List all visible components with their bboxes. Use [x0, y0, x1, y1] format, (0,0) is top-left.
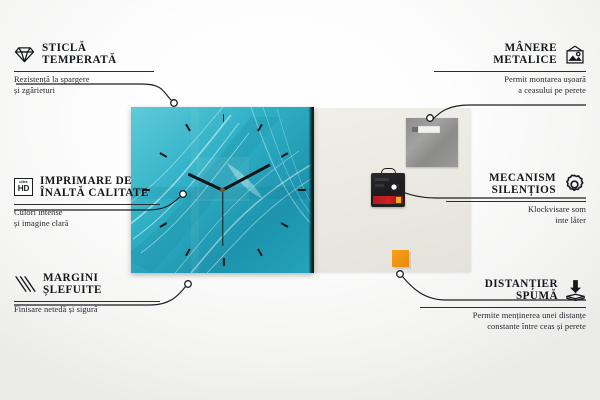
feature-header: STICLĂ TEMPERATĂ: [14, 42, 154, 67]
feature-rule: [14, 71, 154, 72]
infographic-canvas: STICLĂ TEMPERATĂ Rezistență la spargere …: [0, 0, 600, 400]
feature-header: ultra HD IMPRIMARE DE ÎNALTĂ CALITATE: [14, 175, 160, 200]
feature-title: STICLĂ TEMPERATĂ: [42, 42, 117, 67]
mechanism-detail: [375, 184, 384, 187]
ultra-hd-icon: ultra HD: [14, 178, 33, 196]
clock-second-hand: [222, 190, 223, 246]
polished-edges-icon: [14, 275, 36, 293]
feature-rule: [14, 204, 160, 205]
feature-rule: [14, 301, 160, 302]
feature-rule: [446, 201, 586, 202]
feature-title: DISTANȚIER SPUMĂ: [485, 278, 558, 303]
clock-glass-edge: [309, 107, 314, 273]
ultra-hd-large-label: HD: [18, 185, 29, 193]
feature-high-quality-print: ultra HD IMPRIMARE DE ÎNALTĂ CALITATE Cu…: [14, 175, 160, 229]
feature-header: MÂNERE METALICE: [434, 42, 586, 67]
clock-center-cap: [220, 188, 224, 192]
mechanism-battery: [373, 196, 403, 204]
feature-header: DISTANȚIER SPUMĂ: [420, 278, 586, 303]
feature-subtitle: Permite menținerea unei distanțe constan…: [420, 311, 586, 331]
feature-foam-spacer: DISTANȚIER SPUMĂ Permite menținerea unei…: [420, 278, 586, 332]
diamond-icon: [14, 46, 35, 63]
battery-terminal: [396, 197, 401, 203]
feature-subtitle: Klockvisare som inte låter: [446, 205, 586, 225]
mechanism-hanger-loop: [381, 168, 396, 176]
feature-rule: [420, 307, 586, 308]
feature-header: MARGINI ȘLEFUITE: [14, 272, 160, 297]
mechanism-detail: [391, 184, 399, 191]
feature-title: MARGINI ȘLEFUITE: [43, 272, 102, 297]
metal-hanger-plate: [406, 118, 458, 167]
plate-slot: [418, 126, 440, 133]
feature-polished-edges: MARGINI ȘLEFUITE Finisare netedă și sigu…: [14, 272, 160, 316]
feature-rule: [434, 71, 586, 72]
feature-metal-hangers: MÂNERE METALICE Permit montarea ușoară a…: [434, 42, 586, 96]
silent-clock-mechanism: [371, 173, 405, 207]
feature-subtitle: Culori intense și imagine clară: [14, 208, 160, 228]
feature-title: MÂNERE METALICE: [493, 42, 557, 67]
feature-header: MECANISM SILENȚIOS: [446, 172, 586, 197]
feature-title: MECANISM SILENȚIOS: [489, 172, 556, 197]
mechanism-detail: [375, 178, 389, 181]
feature-silent-mechanism: MECANISM SILENȚIOS Klockvisare som inte …: [446, 172, 586, 226]
feature-tempered-glass: STICLĂ TEMPERATĂ Rezistență la spargere …: [14, 42, 154, 96]
gear-icon: [563, 173, 586, 196]
feature-subtitle: Finisare netedă și sigură: [14, 305, 160, 315]
feature-title: IMPRIMARE DE ÎNALTĂ CALITATE: [40, 175, 149, 200]
feature-subtitle: Rezistență la spargere și zgârieturi: [14, 75, 154, 95]
picture-hanger-icon: [564, 45, 586, 64]
foam-spacer: [392, 250, 409, 267]
feature-subtitle: Permit montarea ușoară a ceasului pe per…: [434, 75, 586, 95]
spacer-arrow-icon: [565, 279, 586, 301]
